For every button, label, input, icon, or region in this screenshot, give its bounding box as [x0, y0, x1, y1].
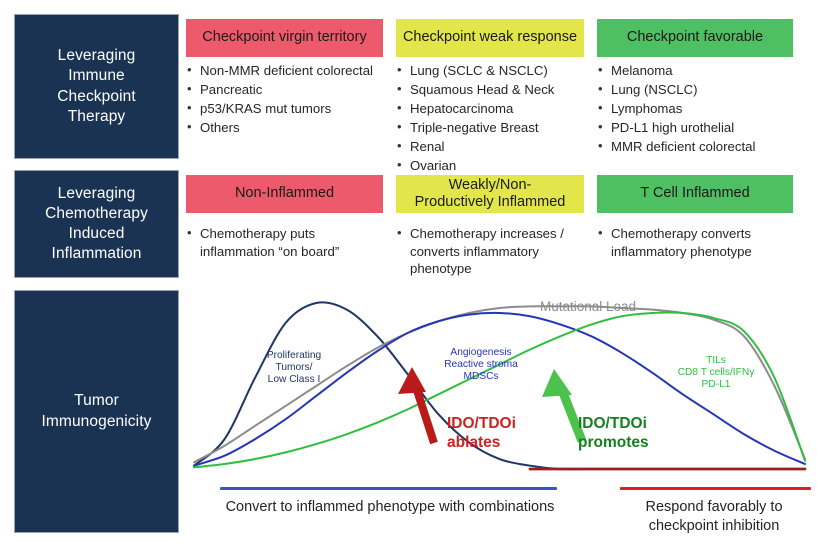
list-item: Ovarian — [396, 157, 591, 175]
list-item: Non-MMR deficient colorectal — [186, 62, 386, 80]
list-item: MMR deficient colorectal — [597, 138, 802, 156]
curve-label-angiogenesis: Angiogenesis Reactive stroma MDSCs — [420, 347, 542, 384]
list-item: Lung (NSCLC) — [597, 81, 802, 99]
list-item: Chemotherapy converts inflammatory pheno… — [597, 225, 802, 260]
annotation-ido-tdoi-promotes: IDO/TDOi promotes — [578, 415, 649, 453]
category-header-text: Non-Inflammed — [235, 185, 334, 202]
bullet-list: Non-MMR deficient colorectal Pancreatic … — [186, 62, 386, 137]
legend-rule-convert — [220, 487, 557, 490]
curve-label-tils: TILs CD8 T cells/IFNγ PD-L1 — [650, 355, 782, 392]
list-item: Hepatocarcinoma — [396, 100, 591, 118]
category-header-text: Checkpoint virgin territory — [202, 29, 366, 46]
category-header-checkpoint-weak-response: Checkpoint weak response — [396, 19, 584, 57]
row-label-immune-checkpoint-therapy: Leveraging Immune Checkpoint Therapy — [14, 14, 179, 159]
category-list-t-cell-inflammed: Chemotherapy converts inflammatory pheno… — [597, 225, 802, 262]
category-list-checkpoint-weak-response: Lung (SCLC & NSCLC) Squamous Head & Neck… — [396, 62, 591, 176]
category-header-text: Weakly/Non- Productively Inflammed — [415, 177, 566, 211]
category-header-checkpoint-virgin-territory: Checkpoint virgin territory — [186, 19, 383, 57]
category-header-text: Checkpoint weak response — [403, 29, 577, 46]
slide-canvas: Leveraging Immune Checkpoint Therapy Che… — [0, 0, 817, 549]
bullet-list: Chemotherapy increases / converts inflam… — [396, 225, 591, 278]
category-header-non-inflammed: Non-Inflammed — [186, 175, 383, 213]
annotation-ido-tdoi-ablates: IDO/TDOi ablates — [447, 415, 516, 453]
legend-rule-respond — [620, 487, 811, 490]
list-item: Chemotherapy puts inflammation “on board… — [186, 225, 386, 260]
list-item: Renal — [396, 138, 591, 156]
bullet-list: Melanoma Lung (NSCLC) Lymphomas PD-L1 hi… — [597, 62, 802, 156]
bullet-list: Chemotherapy converts inflammatory pheno… — [597, 225, 802, 260]
curve-label-mutational-load: Mutational Load — [493, 299, 683, 315]
category-list-checkpoint-virgin-territory: Non-MMR deficient colorectal Pancreatic … — [186, 62, 386, 138]
list-item: Pancreatic — [186, 81, 386, 99]
row-label-tumor-immunogenicity: Tumor Immunogenicity — [14, 290, 179, 533]
row-label-text: Tumor Immunogenicity — [42, 391, 152, 431]
category-list-checkpoint-favorable: Melanoma Lung (NSCLC) Lymphomas PD-L1 hi… — [597, 62, 802, 157]
list-item: Squamous Head & Neck — [396, 81, 591, 99]
category-header-t-cell-inflammed: T Cell Inflammed — [597, 175, 793, 213]
row-label-text: Leveraging Chemotherapy Induced Inflamma… — [45, 184, 148, 265]
list-item: p53/KRAS mut tumors — [186, 100, 386, 118]
row-label-chemotherapy-induced-inflammation: Leveraging Chemotherapy Induced Inflamma… — [14, 170, 179, 278]
list-item: Others — [186, 119, 386, 137]
bullet-list: Lung (SCLC & NSCLC) Squamous Head & Neck… — [396, 62, 591, 175]
list-item: Melanoma — [597, 62, 802, 80]
legend-text-convert: Convert to inflammed phenotype with comb… — [205, 498, 575, 517]
list-item: Lung (SCLC & NSCLC) — [396, 62, 591, 80]
category-header-weakly-non-productively-inflammed: Weakly/Non- Productively Inflammed — [396, 175, 584, 213]
legend-text-respond: Respond favorably to checkpoint inhibiti… — [608, 498, 817, 536]
category-header-checkpoint-favorable: Checkpoint favorable — [597, 19, 793, 57]
row-label-text: Leveraging Immune Checkpoint Therapy — [57, 46, 136, 127]
category-header-text: Checkpoint favorable — [627, 29, 763, 46]
list-item: PD-L1 high urothelial — [597, 119, 802, 137]
category-header-text: T Cell Inflammed — [640, 185, 749, 202]
category-list-weakly-non-productively-inflammed: Chemotherapy increases / converts inflam… — [396, 225, 591, 279]
category-list-non-inflammed: Chemotherapy puts inflammation “on board… — [186, 225, 386, 262]
curve-label-proliferating-tumors: Proliferating Tumors/ Low Class I — [238, 350, 350, 387]
list-item: Triple-negative Breast — [396, 119, 591, 137]
list-item: Lymphomas — [597, 100, 802, 118]
list-item: Chemotherapy increases / converts inflam… — [396, 225, 591, 278]
bullet-list: Chemotherapy puts inflammation “on board… — [186, 225, 386, 260]
arrow-ido-tdoi-promotes — [542, 369, 582, 441]
